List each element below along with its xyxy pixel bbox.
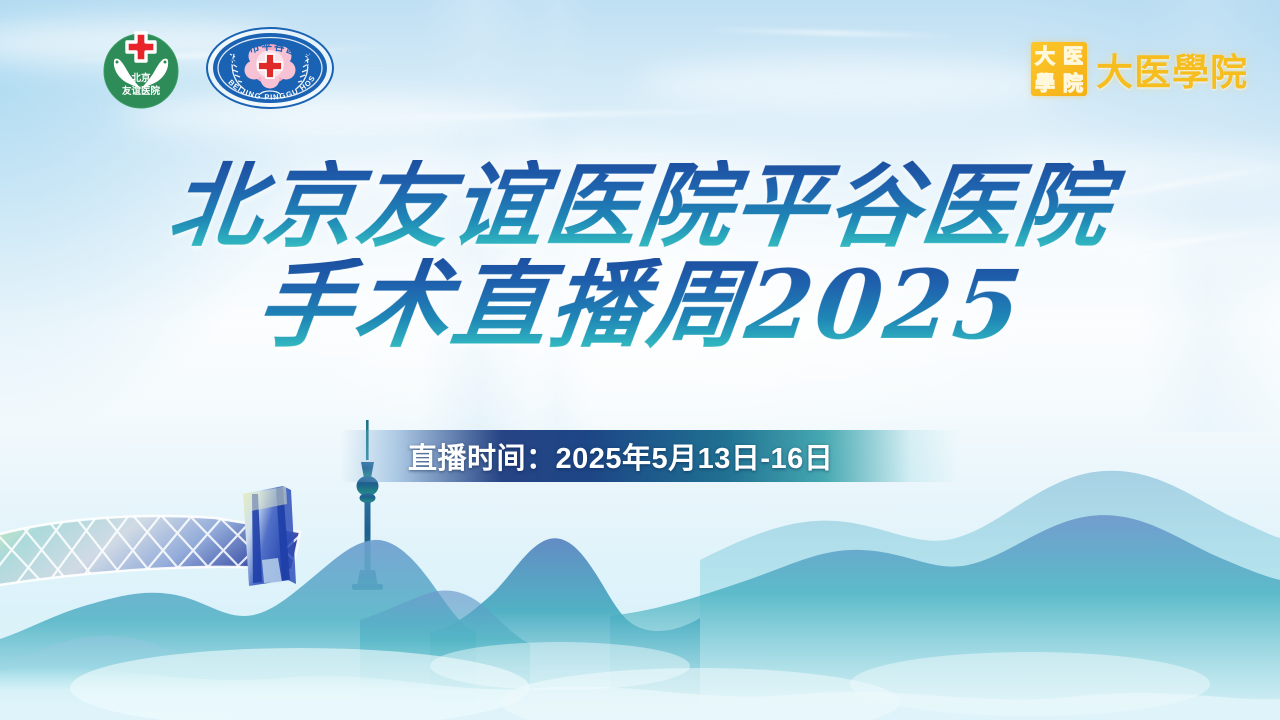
logo-text-line-2: 友谊医院 [121,85,161,97]
logo-text-line-1: 北京 [131,72,151,84]
beijing-pinggu-hospital-logo: 北京市平谷区医院 BEIJING PINGGU HOSPITAL [204,26,336,110]
hospital-logos-group: 北京 友谊医院 [100,26,336,110]
poster-title-line-2: 手术直播周2025 [0,258,1280,355]
poster-title: 北京友谊医院平谷医院 手术直播周2025 [0,160,1280,355]
mark-char: 院 [1063,73,1083,93]
beijing-friendship-hospital-logo: 北京 友谊医院 [100,27,182,109]
mark-char: 大 [1035,46,1055,66]
broadcast-date-text: 直播时间：2025年5月13日-16日 [408,435,833,477]
poster-stage: 北京 友谊医院 [0,0,1280,720]
mark-char: 學 [1035,73,1055,93]
dayi-academy-wordmark: 大医學院 [1096,42,1248,96]
dayi-academy-mark: 大 医 學 院 [1031,42,1087,96]
mist-blob [430,642,690,690]
mark-char: 医 [1063,46,1083,66]
poster-title-line-1: 北京友谊医院平谷医院 [0,160,1280,254]
dayi-academy-logo: 大 医 學 院 大医學院 [1031,42,1248,96]
broadcast-date-banner: 直播时间：2025年5月13日-16日 [340,430,960,482]
mist-blob [850,652,1210,716]
cloud [640,58,1060,110]
